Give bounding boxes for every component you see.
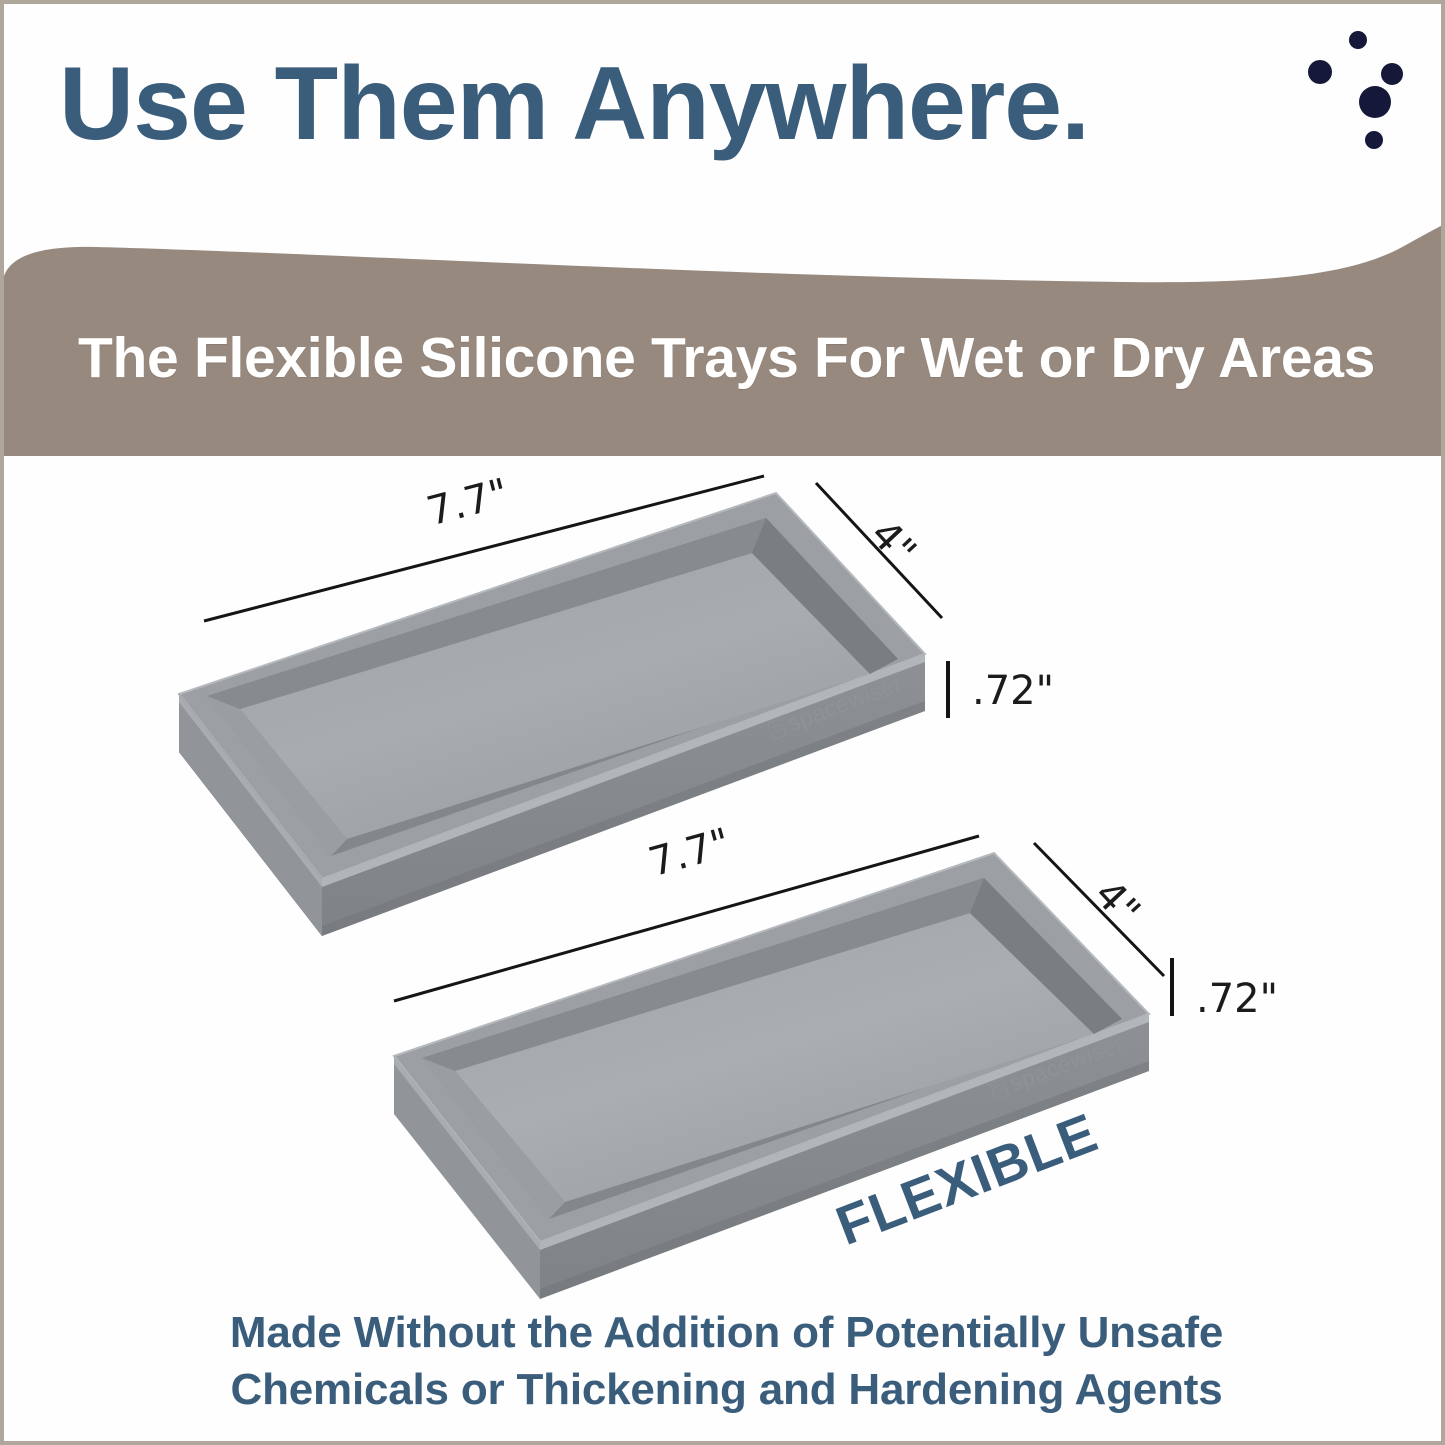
trays-illustration	[4, 456, 1445, 1316]
footer-line-2: Chemicals or Thickening and Hardening Ag…	[4, 1361, 1445, 1418]
decoration-dot-2	[1308, 60, 1332, 84]
product-infographic: Use Them Anywhere. The Flexible Silicone…	[0, 0, 1445, 1445]
decoration-dot-3	[1381, 63, 1403, 85]
page-title: Use Them Anywhere.	[59, 50, 1089, 159]
footer-line-1: Made Without the Addition of Potentially…	[4, 1304, 1445, 1361]
decoration-dot-5	[1365, 131, 1383, 149]
banner-shape	[4, 216, 1445, 456]
tray-top-height-label: .72"	[972, 668, 1054, 714]
footer-text-block: Made Without the Addition of Potentially…	[4, 1304, 1445, 1418]
tray-bottom-height-label: .72"	[1196, 976, 1278, 1022]
subtitle-banner: The Flexible Silicone Trays For Wet or D…	[4, 216, 1445, 456]
decoration-dot-4	[1359, 86, 1391, 118]
dot-cluster-decoration	[1304, 22, 1434, 172]
decoration-dot-1	[1349, 31, 1367, 49]
product-stage: 7.7" 4" .72" spacewiser 7.7" 4" .72" spa…	[4, 456, 1445, 1316]
